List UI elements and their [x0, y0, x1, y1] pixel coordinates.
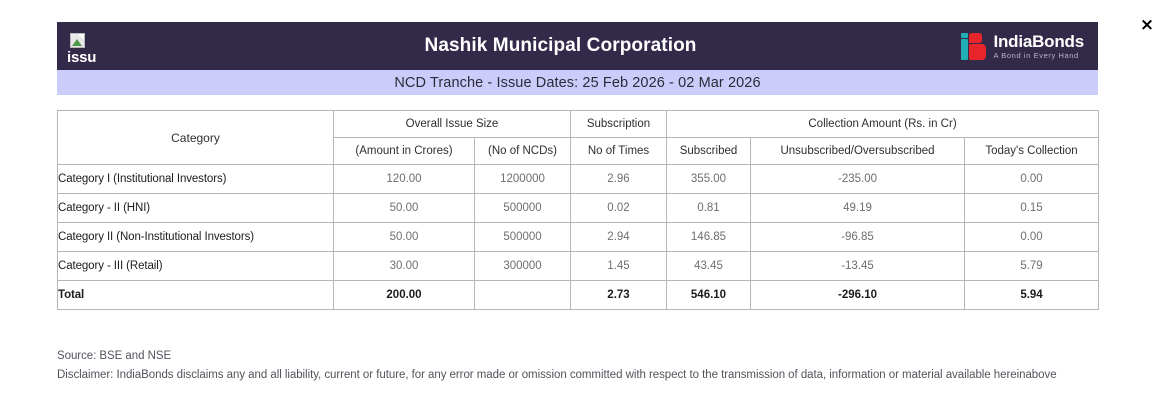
header-no-of-times: No of Times — [571, 138, 667, 165]
table-row: Category - II (HNI) 50.00 500000 0.02 0.… — [58, 194, 1099, 223]
footer: Source: BSE and NSE Disclaimer: IndiaBon… — [57, 347, 1117, 385]
issuer-logo-alt-text: issu — [67, 49, 96, 66]
page-title: Nashik Municipal Corporation — [187, 35, 934, 57]
cell-todays-collection: 0.15 — [965, 194, 1099, 223]
header-subscribed: Subscribed — [667, 138, 751, 165]
cell-unsub-oversub: -96.85 — [751, 223, 965, 252]
cell-no-of-times: 2.94 — [571, 223, 667, 252]
cell-no-of-ncds — [475, 281, 571, 310]
cell-subscribed: 146.85 — [667, 223, 751, 252]
cell-unsub-oversub: -13.45 — [751, 252, 965, 281]
cell-subscribed: 0.81 — [667, 194, 751, 223]
close-icon[interactable]: × — [1138, 16, 1156, 34]
disclaimer-note: Disclaimer: IndiaBonds disclaims any and… — [57, 366, 1117, 385]
header-unsubscribed-oversubscribed: Unsubscribed/Oversubscribed — [751, 138, 965, 165]
table-row-total: Total 200.00 2.73 546.10 -296.10 5.94 — [58, 281, 1099, 310]
cell-no-of-ncds: 300000 — [475, 252, 571, 281]
header-category: Category — [58, 111, 334, 165]
table-body: Category I (Institutional Investors) 120… — [58, 165, 1099, 310]
brand-name: IndiaBonds — [993, 33, 1084, 50]
cell-amount-in-crores: 30.00 — [334, 252, 475, 281]
issue-dates-banner: NCD Tranche - Issue Dates: 25 Feb 2026 -… — [57, 70, 1098, 95]
cell-subscribed: 355.00 — [667, 165, 751, 194]
broken-image-placeholder: issu — [67, 33, 96, 66]
cell-no-of-ncds: 500000 — [475, 223, 571, 252]
issue-subscription-table: Category Overall Issue Size Subscription… — [57, 110, 1099, 310]
cell-unsub-oversub: -235.00 — [751, 165, 965, 194]
cell-no-of-times: 0.02 — [571, 194, 667, 223]
cell-no-of-ncds: 500000 — [475, 194, 571, 223]
cell-amount-in-crores: 50.00 — [334, 223, 475, 252]
cell-amount-in-crores: 50.00 — [334, 194, 475, 223]
table-row: Category - III (Retail) 30.00 300000 1.4… — [58, 252, 1099, 281]
header-collection-amount: Collection Amount (Rs. in Cr) — [667, 111, 1099, 138]
indiabonds-logo-icon — [961, 33, 986, 60]
table-row: Category II (Non-Institutional Investors… — [58, 223, 1099, 252]
cell-todays-collection: 5.94 — [965, 281, 1099, 310]
cell-subscribed: 43.45 — [667, 252, 751, 281]
cell-todays-collection: 5.79 — [965, 252, 1099, 281]
table-header-row-group: Category Overall Issue Size Subscription… — [58, 111, 1099, 138]
header-subscription: Subscription — [571, 111, 667, 138]
banner-header: issu Nashik Municipal Corporation IndiaB… — [57, 22, 1098, 70]
cell-todays-collection: 0.00 — [965, 165, 1099, 194]
brand-tagline: A Bond in Every Hand — [993, 52, 1084, 60]
cell-no-of-times: 2.73 — [571, 281, 667, 310]
issue-subscription-table-container: Category Overall Issue Size Subscription… — [57, 110, 1098, 310]
cell-unsub-oversub: 49.19 — [751, 194, 965, 223]
cell-amount-in-crores: 120.00 — [334, 165, 475, 194]
header-todays-collection: Today's Collection — [965, 138, 1099, 165]
broken-image-icon — [70, 33, 85, 48]
cell-no-of-ncds: 1200000 — [475, 165, 571, 194]
issuer-logo-container: issu — [67, 22, 187, 70]
table-row: Category I (Institutional Investors) 120… — [58, 165, 1099, 194]
cell-category: Category - II (HNI) — [58, 194, 334, 223]
header-no-of-ncds: (No of NCDs) — [475, 138, 571, 165]
header-overall-issue-size: Overall Issue Size — [334, 111, 571, 138]
cell-todays-collection: 0.00 — [965, 223, 1099, 252]
source-note: Source: BSE and NSE — [57, 347, 1117, 366]
brand-logo: IndiaBonds A Bond in Every Hand — [934, 33, 1088, 60]
cell-category: Category I (Institutional Investors) — [58, 165, 334, 194]
cell-subscribed: 546.10 — [667, 281, 751, 310]
cell-category: Category - III (Retail) — [58, 252, 334, 281]
header-amount-in-crores: (Amount in Crores) — [334, 138, 475, 165]
cell-category: Total — [58, 281, 334, 310]
cell-no-of-times: 1.45 — [571, 252, 667, 281]
cell-no-of-times: 2.96 — [571, 165, 667, 194]
brand-text: IndiaBonds A Bond in Every Hand — [993, 33, 1084, 60]
cell-amount-in-crores: 200.00 — [334, 281, 475, 310]
cell-category: Category II (Non-Institutional Investors… — [58, 223, 334, 252]
cell-unsub-oversub: -296.10 — [751, 281, 965, 310]
